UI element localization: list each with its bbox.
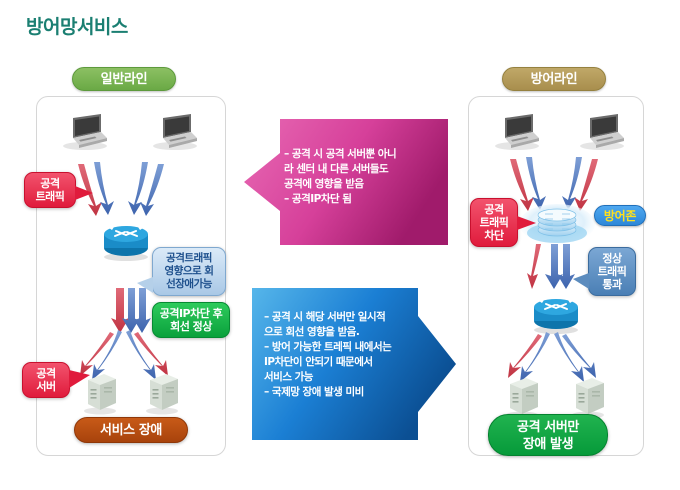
pink-arrow-text: – 공격 시 공격 서버뿐 아니 라 센터 내 다른 서버들도 공격에 영향을 … xyxy=(284,147,436,207)
normal-line-header-pill: 일반라인 xyxy=(72,67,176,91)
status-badge-service-failure: 서비스 장애 xyxy=(74,417,188,443)
callout-attack-server: 공격 서버 xyxy=(22,362,70,398)
defense-zone-pill: 방어존 xyxy=(594,205,646,226)
callout-attack-blocked: 공격 트래픽 차단 xyxy=(470,198,518,247)
page-title: 방어망서비스 xyxy=(26,12,128,39)
laptop-icon-right-2 xyxy=(572,110,628,152)
callout-attack-server-text: 공격 서버 xyxy=(22,362,70,398)
callout-ip-block-normal: 공격IP차단 후 회선 정상 xyxy=(152,302,230,338)
callout-attack-blocked-text: 공격 트래픽 차단 xyxy=(470,198,518,247)
status-badge-attack-server-only: 공격 서버만 장애 발생 xyxy=(488,414,608,456)
defense-line-header-pill: 방어라인 xyxy=(502,67,606,91)
server-icon-left-2 xyxy=(140,370,184,416)
laptop-icon-left-2 xyxy=(145,110,201,152)
blue-arrow-callout: – 공격 시 해당 서버만 일시적 으로 회선 영향을 받음. – 방어 가능한… xyxy=(252,288,456,440)
callout-tail-icon xyxy=(69,370,90,388)
callout-tail-icon xyxy=(517,216,536,230)
router-icon-left xyxy=(97,222,155,262)
callout-line-failure-text: 공격트래픽 영향으로 회 선장애가능 xyxy=(152,247,226,296)
diagram-canvas: 방어망서비스 일반라인 xyxy=(0,0,680,490)
laptop-icon-left-1 xyxy=(55,110,111,152)
traffic-flow-left-mid xyxy=(110,288,154,336)
callout-tail-icon xyxy=(75,186,93,200)
callout-tail-icon xyxy=(137,277,153,293)
blue-arrow-text: – 공격 시 해당 서버만 일시적 으로 회선 영향을 받음. – 방어 가능한… xyxy=(264,310,424,400)
laptop-icon-right-1 xyxy=(487,110,543,152)
callout-ip-block-normal-text: 공격IP차단 후 회선 정상 xyxy=(152,302,230,338)
router-icon-right xyxy=(527,295,585,335)
callout-attack-traffic-text: 공격 트래픽 xyxy=(24,172,76,208)
callout-attack-traffic: 공격 트래픽 xyxy=(24,172,76,208)
callout-normal-pass-text: 정상 트래픽 통과 xyxy=(588,247,636,296)
callout-line-failure: 공격트래픽 영향으로 회 선장애가능 xyxy=(152,247,226,296)
callout-normal-pass: 정상 트래픽 통과 xyxy=(588,247,636,296)
callout-tail-icon xyxy=(573,273,589,289)
pink-arrow-callout: – 공격 시 공격 서버뿐 아니 라 센터 내 다른 서버들도 공격에 영향을 … xyxy=(244,119,448,245)
